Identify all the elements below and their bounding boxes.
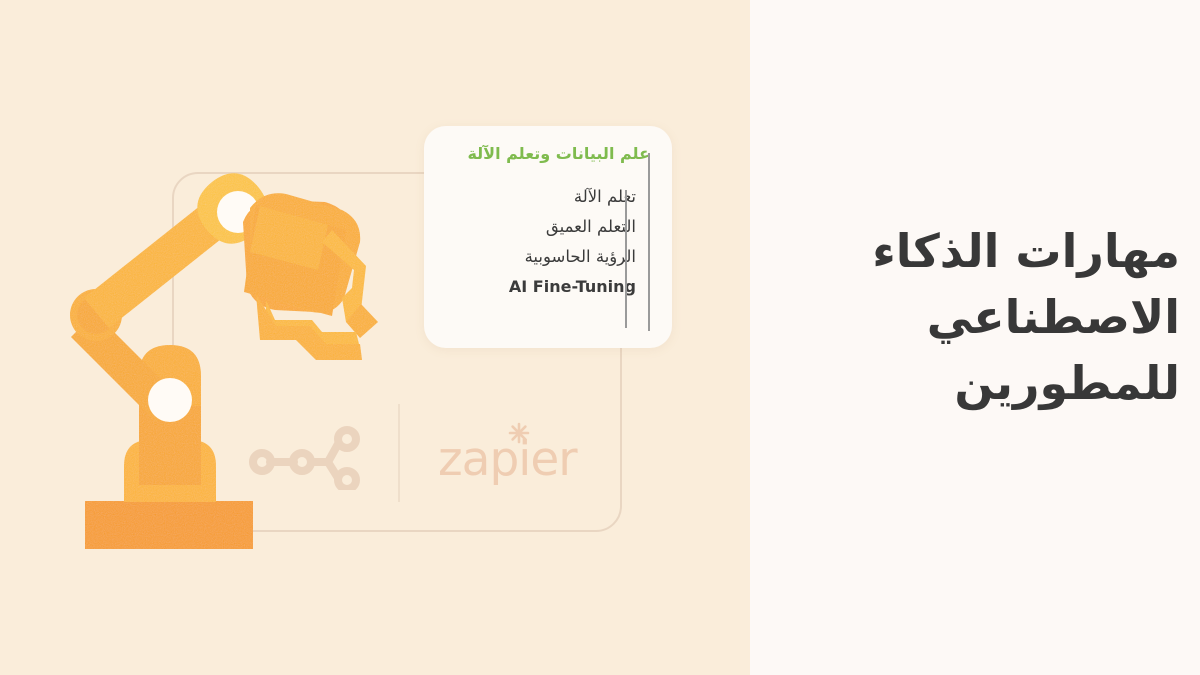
list-item[interactable]: التعلم العميق bbox=[460, 212, 636, 242]
robot-arm-illustration bbox=[60, 170, 420, 560]
node-graph-icon bbox=[248, 418, 370, 490]
page-title: مهارات الذكاء الاصطناعي للمطورين bbox=[790, 218, 1180, 416]
vertical-divider bbox=[398, 404, 400, 502]
card-title: علم البيانات وتعلم الآلة bbox=[467, 144, 650, 163]
slide-canvas: zapier علم البيانات وتعلم الآلة تعلم الآ… bbox=[0, 0, 1200, 675]
asterisk-icon bbox=[508, 422, 530, 444]
list-item[interactable]: تعلم الآلة bbox=[460, 182, 636, 212]
list-item[interactable]: الرؤية الحاسوبية bbox=[460, 242, 636, 272]
left-illustration-panel: zapier علم البيانات وتعلم الآلة تعلم الآ… bbox=[0, 0, 750, 675]
skills-card[interactable]: علم البيانات وتعلم الآلة تعلم الآلة التع… bbox=[424, 126, 672, 348]
zapier-logo: zapier bbox=[438, 424, 578, 486]
card-inner-rule bbox=[625, 190, 627, 328]
list-item[interactable]: AI Fine-Tuning bbox=[460, 272, 636, 302]
card-outer-rule bbox=[648, 153, 650, 331]
skills-list: تعلم الآلة التعلم العميق الرؤية الحاسوبي… bbox=[460, 182, 636, 302]
